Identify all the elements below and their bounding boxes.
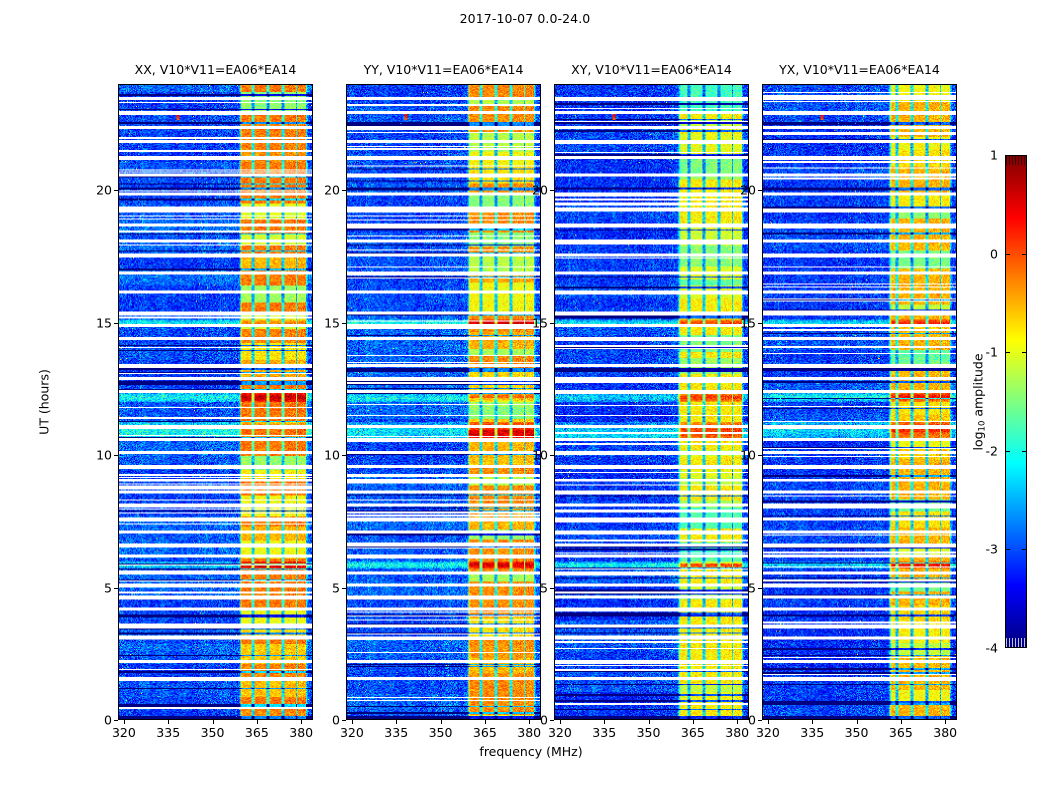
colorbar-tick-mark (1005, 254, 1010, 255)
y-tick-label: 20 (532, 183, 548, 198)
y-tick-mark (758, 323, 762, 324)
y-tick-label: 15 (532, 315, 548, 330)
x-tick-mark (396, 720, 397, 724)
colorbar-tick-mark (1005, 549, 1010, 550)
x-tick-mark (485, 720, 486, 724)
colorbar-frame (1005, 155, 1027, 648)
x-tick-mark (560, 720, 561, 724)
axes-frame-yy (346, 84, 541, 720)
y-tick-mark (550, 323, 554, 324)
panel-yx[interactable]: YX, V10*V11=EA06*EA14 320335350365380051… (762, 84, 957, 720)
panel-yy[interactable]: YY, V10*V11=EA06*EA14 320335350365380051… (346, 84, 541, 720)
colorbar-tick-mark (1022, 549, 1027, 550)
x-tick-mark (168, 720, 169, 724)
y-tick-label: 20 (324, 183, 340, 198)
y-tick-mark (342, 455, 346, 456)
y-tick-label: 15 (740, 315, 756, 330)
x-tick-mark (901, 720, 902, 724)
colorbar-gradient (1006, 156, 1026, 647)
colorbar-tick-label: -4 (986, 641, 998, 656)
colorbar-tick-mark (1022, 254, 1027, 255)
y-tick-mark (114, 720, 118, 721)
colorbar-label-log: log (971, 431, 986, 450)
colorbar-over-hatch (1006, 156, 1026, 165)
y-tick-mark (114, 455, 118, 456)
colorbar-tick-label: 1 (990, 148, 998, 163)
colorbar-tick-mark (1005, 451, 1010, 452)
x-tick-mark (352, 720, 353, 724)
x-tick-mark (945, 720, 946, 724)
x-axis-label: frequency (MHz) (479, 744, 582, 759)
x-tick-mark (301, 720, 302, 724)
y-tick-mark (758, 455, 762, 456)
x-tick-mark (649, 720, 650, 724)
y-tick-label: 0 (748, 713, 756, 728)
y-tick-mark (758, 720, 762, 721)
y-tick-mark (342, 588, 346, 589)
y-tick-mark (758, 190, 762, 191)
x-tick-mark (857, 720, 858, 724)
colorbar-under-hatch (1006, 638, 1026, 647)
y-tick-mark (342, 720, 346, 721)
spectrogram-yy (347, 85, 540, 719)
y-tick-label: 10 (96, 448, 112, 463)
x-tick-mark (604, 720, 605, 724)
y-tick-label: 10 (324, 448, 340, 463)
colorbar-tick-label: -3 (986, 542, 998, 557)
x-tick-mark (213, 720, 214, 724)
axes-frame-yx (762, 84, 957, 720)
colorbar-tick-label: -2 (986, 443, 998, 458)
y-tick-mark (758, 588, 762, 589)
x-tick-mark (693, 720, 694, 724)
y-tick-mark (550, 190, 554, 191)
y-tick-mark (550, 588, 554, 589)
panel-title-xx: XX, V10*V11=EA06*EA14 (135, 62, 297, 77)
axes-frame-xy (554, 84, 749, 720)
y-tick-label: 5 (748, 580, 756, 595)
colorbar-tick-label: 0 (990, 246, 998, 261)
colorbar-tick-mark (1022, 451, 1027, 452)
colorbar-tick-mark (1005, 352, 1010, 353)
y-tick-label: 15 (324, 315, 340, 330)
y-tick-label: 20 (96, 183, 112, 198)
y-tick-label: 0 (332, 713, 340, 728)
x-tick-mark (737, 720, 738, 724)
colorbar-label-subscript: 10 (978, 421, 988, 432)
y-tick-label: 10 (532, 448, 548, 463)
x-tick-mark (529, 720, 530, 724)
panel-xx[interactable]: XX, V10*V11=EA06*EA14 320335350365380051… (118, 84, 313, 720)
spectrogram-xx (119, 85, 312, 719)
figure-title: 2017-10-07 0.0-24.0 (0, 11, 1050, 26)
y-tick-label: 20 (740, 183, 756, 198)
y-tick-label: 5 (332, 580, 340, 595)
spectrogram-yx (763, 85, 956, 719)
y-tick-mark (550, 455, 554, 456)
panel-title-yx: YX, V10*V11=EA06*EA14 (779, 62, 940, 77)
x-tick-mark (812, 720, 813, 724)
y-tick-label: 5 (104, 580, 112, 595)
x-tick-mark (257, 720, 258, 724)
panel-title-xy: XY, V10*V11=EA06*EA14 (571, 62, 732, 77)
colorbar-tick-mark (1022, 352, 1027, 353)
y-tick-mark (114, 588, 118, 589)
y-tick-label: 0 (540, 713, 548, 728)
y-tick-mark (114, 323, 118, 324)
colorbar-label: log10 amplitude (971, 353, 986, 450)
y-tick-label: 5 (540, 580, 548, 595)
colorbar-tick-label: -1 (986, 345, 998, 360)
y-tick-mark (342, 190, 346, 191)
y-axis-label: UT (hours) (37, 369, 52, 435)
x-tick-mark (768, 720, 769, 724)
y-tick-label: 15 (96, 315, 112, 330)
x-tick-mark (441, 720, 442, 724)
axes-frame-xx (118, 84, 313, 720)
y-tick-mark (342, 323, 346, 324)
panel-xy[interactable]: XY, V10*V11=EA06*EA14 320335350365380051… (554, 84, 749, 720)
x-tick-mark (124, 720, 125, 724)
y-tick-mark (114, 190, 118, 191)
panel-title-yy: YY, V10*V11=EA06*EA14 (364, 62, 524, 77)
colorbar[interactable]: 10-1-2-3-4 (1005, 155, 1027, 648)
y-tick-mark (550, 720, 554, 721)
spectrogram-xy (555, 85, 748, 719)
y-tick-label: 10 (740, 448, 756, 463)
y-tick-label: 0 (104, 713, 112, 728)
colorbar-label-rest: amplitude (971, 353, 986, 420)
